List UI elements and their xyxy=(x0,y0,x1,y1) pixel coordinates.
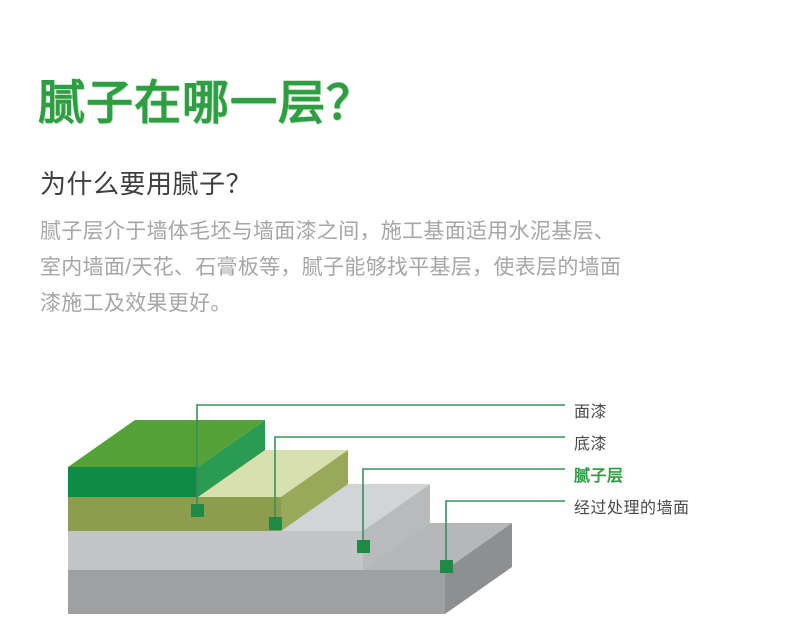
body-paragraph: 腻子层介于墙体毛坯与墙面漆之间，施工基面适用水泥基层、 室内墙面/天花、石膏板等… xyxy=(40,214,770,322)
primer-front-face xyxy=(68,497,281,531)
leader-marker-2 xyxy=(269,517,282,530)
infographic-page: 腻子在哪一层？ 为什么要用腻子？ 腻子层介于墙体毛坯与墙面漆之间，施工基面适用水… xyxy=(0,0,790,641)
body-line-3: 漆施工及效果更好。 xyxy=(40,286,770,322)
diagram-label-wall: 经过处理的墙面 xyxy=(574,494,690,518)
leader-marker-4 xyxy=(440,560,453,573)
topcoat-front-face xyxy=(68,467,198,497)
body-line-1: 腻子层介于墙体毛坯与墙面漆之间，施工基面适用水泥基层、 xyxy=(40,214,770,250)
body-line-2: 室内墙面/天花、石膏板等，腻子能够找平基层，使表层的墙面 xyxy=(40,250,770,286)
wall-front-face xyxy=(68,570,445,614)
diagram-label-primer: 底漆 xyxy=(574,430,607,454)
leader-marker-1 xyxy=(191,504,204,517)
putty-front-face xyxy=(68,531,363,570)
leader-marker-3 xyxy=(357,540,370,553)
page-title: 腻子在哪一层？ xyxy=(38,77,374,129)
diagram-label-topcoat: 面漆 xyxy=(574,398,607,422)
diagram-label-putty: 腻子层 xyxy=(574,462,624,486)
page-subtitle: 为什么要用腻子？ xyxy=(40,164,252,201)
